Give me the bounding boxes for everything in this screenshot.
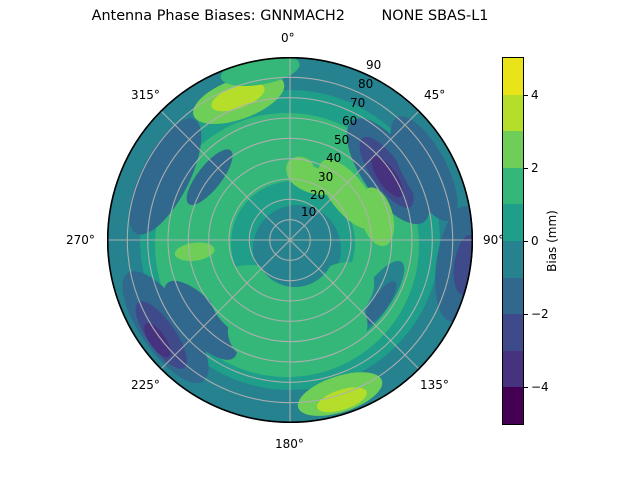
colorbar-band	[503, 204, 523, 241]
r-label-20: 20	[310, 188, 325, 202]
r-label-60: 60	[342, 114, 357, 128]
theta-label-225: 225°	[131, 378, 160, 392]
colorbar-ticklabel-m2: −2	[531, 308, 549, 320]
colorbar-gradient	[502, 57, 524, 425]
colorbar-band	[503, 168, 523, 205]
theta-label-180: 180°	[275, 437, 304, 451]
polar-axes[interactable]	[107, 57, 473, 423]
colorbar-band	[503, 95, 523, 132]
colorbar-band	[503, 387, 523, 424]
r-label-10: 10	[301, 205, 316, 219]
theta-label-0: 0°	[281, 31, 295, 45]
theta-label-135: 135°	[420, 378, 449, 392]
colorbar-ticklabel-2: 2	[531, 162, 539, 174]
r-label-50: 50	[334, 133, 349, 147]
r-label-30: 30	[318, 170, 333, 184]
r-label-40: 40	[326, 151, 341, 165]
theta-label-45: 45°	[424, 88, 445, 102]
theta-label-270: 270°	[66, 233, 95, 247]
r-label-80: 80	[358, 77, 373, 91]
colorbar-band	[503, 241, 523, 278]
polar-contour-plot	[107, 57, 473, 423]
colorbar-band	[503, 58, 523, 95]
r-label-90: 90	[366, 58, 381, 72]
colorbar-tickmark-m2	[524, 314, 528, 315]
page-title: Antenna Phase Biases: GNNMACH2 NONE SBAS…	[0, 8, 580, 25]
figure-canvas: Antenna Phase Biases: GNNMACH2 NONE SBAS…	[0, 0, 640, 480]
colorbar[interactable]: 4 2 0 −2 −4	[502, 57, 524, 425]
colorbar-axis-label: Bias (mm)	[546, 210, 558, 272]
r-label-70: 70	[350, 96, 365, 110]
colorbar-tickmark-2	[524, 168, 528, 169]
colorbar-band	[503, 131, 523, 168]
colorbar-tickmark-4	[524, 95, 528, 96]
polar-grid	[107, 57, 473, 423]
colorbar-tickmark-0	[524, 241, 528, 242]
colorbar-band	[503, 314, 523, 351]
colorbar-ticklabel-m4: −4	[531, 381, 549, 393]
colorbar-tickmark-m4	[524, 387, 528, 388]
colorbar-band	[503, 278, 523, 315]
colorbar-ticklabel-0: 0	[531, 235, 539, 247]
colorbar-band	[503, 351, 523, 388]
theta-label-315: 315°	[131, 88, 160, 102]
colorbar-ticklabel-4: 4	[531, 89, 539, 101]
